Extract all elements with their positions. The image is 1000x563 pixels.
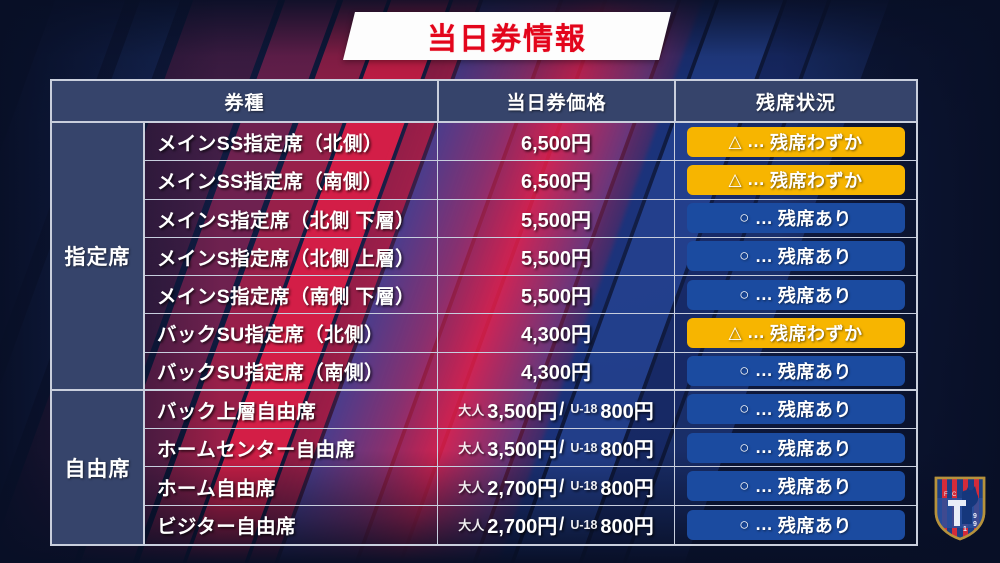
- cell-ticket-type: バック上層自由席: [145, 391, 437, 428]
- price-separator: /: [559, 476, 564, 497]
- header-ticket-type: 券種: [52, 81, 437, 121]
- status-mark-icon: ○: [739, 438, 750, 458]
- status-mark-icon: ○: [739, 285, 750, 305]
- cell-seat-status: ○ … 残席あり: [674, 429, 916, 466]
- status-dots: …: [755, 246, 773, 267]
- svg-text:C: C: [952, 492, 957, 498]
- svg-text:9: 9: [973, 521, 977, 528]
- status-dots: …: [755, 360, 773, 381]
- cell-seat-status: ○ … 残席あり: [674, 238, 916, 275]
- price-adult: 2,700円: [487, 510, 557, 539]
- price-separator: /: [559, 514, 564, 535]
- cell-ticket-price: 4,300円: [437, 314, 674, 351]
- cell-seat-status: △ … 残席わずか: [674, 123, 916, 160]
- cell-seat-status: △ … 残席わずか: [674, 314, 916, 351]
- status-label: 残席あり: [778, 396, 852, 422]
- cell-seat-status: ○ … 残席あり: [674, 276, 916, 313]
- status-label: 残席あり: [778, 473, 852, 499]
- table-row[interactable]: バック上層自由席 大人 3,500円 / U-18 800円 ○ … 残席あり: [145, 391, 916, 429]
- cell-ticket-type: メインSS指定席（北側）: [145, 123, 437, 160]
- status-mark-icon: △: [728, 323, 742, 343]
- rows-column: メインSS指定席（北側） 6,500円 △ … 残席わずか メインSS指定席（南…: [145, 123, 916, 544]
- table-row[interactable]: バックSU指定席（北側） 4,300円 △ … 残席わずか: [145, 314, 916, 352]
- cell-ticket-price: 6,500円: [437, 123, 674, 160]
- category-label-reserved: 指定席: [52, 123, 145, 391]
- price-u18-label: U-18: [570, 479, 597, 493]
- status-mark-icon: △: [728, 170, 742, 190]
- table-row[interactable]: ホーム自由席 大人 2,700円 / U-18 800円 ○ … 残席あり: [145, 467, 916, 505]
- cell-seat-status: ○ … 残席あり: [674, 200, 916, 237]
- cell-ticket-price: 5,500円: [437, 200, 674, 237]
- cell-ticket-type: メインSS指定席（南側）: [145, 161, 437, 198]
- cell-ticket-type: ホームセンター自由席: [145, 429, 437, 466]
- cell-seat-status: ○ … 残席あり: [674, 506, 916, 544]
- header-seat-status: 残席状況: [674, 81, 916, 121]
- status-badge: △ … 残席わずか: [687, 165, 905, 195]
- cell-ticket-price: 大人 2,700円 / U-18 800円: [437, 467, 674, 504]
- svg-text:1: 1: [963, 526, 967, 533]
- status-label: 残席あり: [778, 205, 852, 231]
- price-adult-label: 大人: [458, 477, 484, 496]
- table-body: 指定席 自由席 メインSS指定席（北側） 6,500円 △ … 残席わずか メイ…: [52, 123, 916, 544]
- status-label: 残席あり: [778, 282, 852, 308]
- cell-ticket-type: ホーム自由席: [145, 467, 437, 504]
- status-dots: …: [755, 399, 773, 420]
- status-badge: ○ … 残席あり: [687, 394, 905, 424]
- price-u18: 800円: [600, 510, 653, 539]
- cell-seat-status: △ … 残席わずか: [674, 161, 916, 198]
- price-u18-label: U-18: [570, 441, 597, 455]
- cell-ticket-price: 5,500円: [437, 238, 674, 275]
- table-row[interactable]: メインSS指定席（南側） 6,500円 △ … 残席わずか: [145, 161, 916, 199]
- cell-ticket-price: 大人 3,500円 / U-18 800円: [437, 429, 674, 466]
- cell-ticket-type: メインS指定席（北側 下層）: [145, 200, 437, 237]
- price-separator: /: [559, 399, 564, 420]
- price-adult-label: 大人: [458, 438, 484, 457]
- status-mark-icon: ○: [739, 246, 750, 266]
- price-u18: 800円: [600, 433, 653, 462]
- table-header-row: 券種 当日券価格 残席状況: [52, 81, 916, 123]
- cell-ticket-price: 6,500円: [437, 161, 674, 198]
- status-dots: …: [747, 131, 765, 152]
- status-mark-icon: ○: [739, 476, 750, 496]
- status-mark-icon: ○: [739, 208, 750, 228]
- cell-seat-status: ○ … 残席あり: [674, 353, 916, 389]
- table-row[interactable]: バックSU指定席（南側） 4,300円 ○ … 残席あり: [145, 353, 916, 391]
- status-mark-icon: ○: [739, 399, 750, 419]
- cell-ticket-type: メインS指定席（南側 下層）: [145, 276, 437, 313]
- price-adult-label: 大人: [458, 400, 484, 419]
- page-title: 当日券情報: [349, 12, 665, 60]
- table-row[interactable]: ホームセンター自由席 大人 3,500円 / U-18 800円 ○ … 残席あ…: [145, 429, 916, 467]
- svg-text:9: 9: [973, 513, 977, 520]
- cell-ticket-price: 大人 2,700円 / U-18 800円: [437, 506, 674, 544]
- status-badge: △ … 残席わずか: [687, 127, 905, 157]
- price-separator: /: [559, 437, 564, 458]
- price-u18: 800円: [600, 395, 653, 424]
- status-dots: …: [755, 284, 773, 305]
- cell-ticket-type: バックSU指定席（北側）: [145, 314, 437, 351]
- status-label: 残席あり: [778, 512, 852, 538]
- status-dots: …: [755, 208, 773, 229]
- cell-ticket-type: ビジター自由席: [145, 506, 437, 544]
- status-badge: △ … 残席わずか: [687, 318, 905, 348]
- cell-ticket-price: 大人 3,500円 / U-18 800円: [437, 391, 674, 428]
- cell-ticket-price: 5,500円: [437, 276, 674, 313]
- table-row[interactable]: メインS指定席（北側 下層） 5,500円 ○ … 残席あり: [145, 200, 916, 238]
- price-adult-label: 大人: [458, 515, 484, 534]
- status-mark-icon: ○: [739, 361, 750, 381]
- status-label: 残席あり: [778, 243, 852, 269]
- status-badge: ○ … 残席あり: [687, 241, 905, 271]
- status-dots: …: [755, 514, 773, 535]
- category-label-free: 自由席: [52, 391, 145, 544]
- fc-tokyo-crest-icon: F C 9 9 1: [932, 474, 988, 542]
- status-dots: …: [747, 322, 765, 343]
- table-row[interactable]: メインS指定席（南側 下層） 5,500円 ○ … 残席あり: [145, 276, 916, 314]
- status-label: 残席あり: [778, 358, 852, 384]
- status-badge: ○ … 残席あり: [687, 510, 905, 540]
- status-label: 残席わずか: [770, 129, 863, 155]
- svg-text:F: F: [944, 492, 948, 498]
- status-badge: ○ … 残席あり: [687, 433, 905, 463]
- price-u18-label: U-18: [570, 402, 597, 416]
- ticket-table: 券種 当日券価格 残席状況 指定席 自由席 メインSS指定席（北側） 6,500…: [50, 79, 918, 546]
- price-adult: 3,500円: [487, 395, 557, 424]
- table-row[interactable]: ビジター自由席 大人 2,700円 / U-18 800円 ○ … 残席あり: [145, 506, 916, 544]
- category-column: 指定席 自由席: [52, 123, 145, 544]
- table-row[interactable]: メインSS指定席（北側） 6,500円 △ … 残席わずか: [145, 123, 916, 161]
- cell-ticket-type: メインS指定席（北側 上層）: [145, 238, 437, 275]
- status-dots: …: [755, 437, 773, 458]
- status-dots: …: [747, 169, 765, 190]
- status-dots: …: [755, 476, 773, 497]
- status-badge: ○ … 残席あり: [687, 280, 905, 310]
- price-adult: 3,500円: [487, 433, 557, 462]
- cell-ticket-type: バックSU指定席（南側）: [145, 353, 437, 389]
- price-adult: 2,700円: [487, 472, 557, 501]
- header-ticket-price: 当日券価格: [437, 81, 674, 121]
- status-label: 残席あり: [778, 435, 852, 461]
- status-badge: ○ … 残席あり: [687, 203, 905, 233]
- price-u18-label: U-18: [570, 518, 597, 532]
- status-mark-icon: △: [728, 132, 742, 152]
- status-mark-icon: ○: [739, 515, 750, 535]
- status-badge: ○ … 残席あり: [687, 471, 905, 501]
- status-label: 残席わずか: [770, 167, 863, 193]
- cell-seat-status: ○ … 残席あり: [674, 467, 916, 504]
- status-label: 残席わずか: [770, 320, 863, 346]
- status-badge: ○ … 残席あり: [687, 356, 905, 386]
- price-u18: 800円: [600, 472, 653, 501]
- table-row[interactable]: メインS指定席（北側 上層） 5,500円 ○ … 残席あり: [145, 238, 916, 276]
- cell-seat-status: ○ … 残席あり: [674, 391, 916, 428]
- cell-ticket-price: 4,300円: [437, 353, 674, 389]
